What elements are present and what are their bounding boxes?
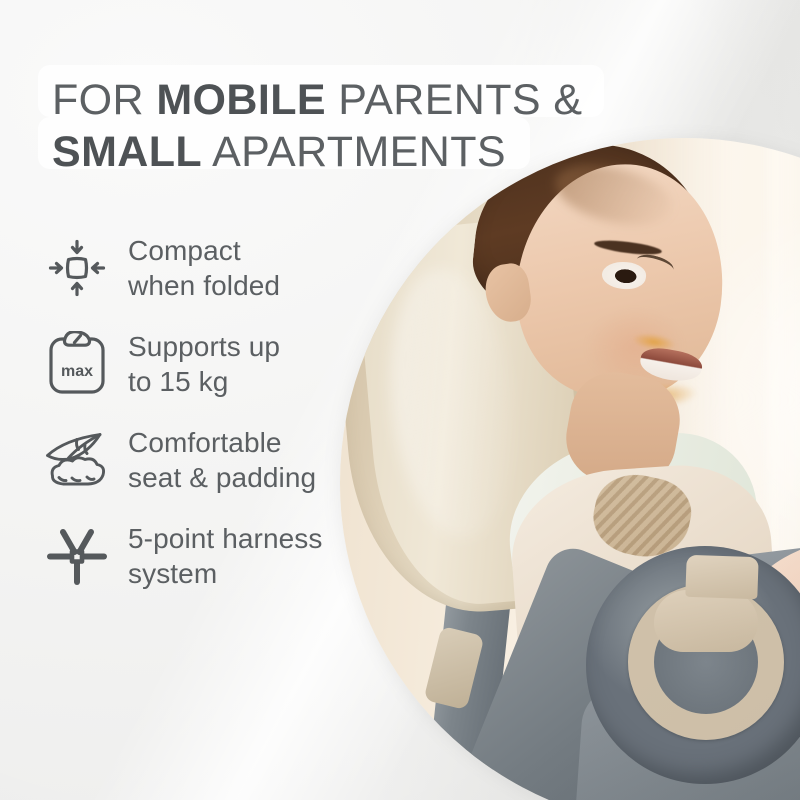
feature-harness-line1: 5-point harness <box>128 523 323 554</box>
feature-list: Compact when folded max Supports up to 1… <box>44 232 374 592</box>
feature-item-harness: 5-point harness system <box>44 520 374 592</box>
scale-max-text: max <box>61 363 93 380</box>
five-point-harness-icon <box>44 520 110 592</box>
feature-label-compact: Compact when folded <box>128 233 280 303</box>
feather-cloud-icon <box>44 424 110 496</box>
headline-line2-post: APARTMENTS <box>202 128 506 176</box>
feature-label-harness: 5-point harness system <box>128 521 323 591</box>
feature-compact-line1: Compact <box>128 235 241 266</box>
feature-item-weight: max Supports up to 15 kg <box>44 328 374 400</box>
feature-weight-line1: Supports up <box>128 331 280 362</box>
page-title: FOR MOBILE PARENTS & SMALL APARTMENTS <box>52 74 652 178</box>
feature-comfort-line1: Comfortable <box>128 427 282 458</box>
feature-harness-line2: system <box>128 558 217 589</box>
feature-compact-line2: when folded <box>128 270 280 301</box>
headline-line1-bold: MOBILE <box>156 76 326 124</box>
headline-line-2: SMALL APARTMENTS <box>52 126 652 178</box>
feature-item-compact: Compact when folded <box>44 232 374 304</box>
feature-item-comfort: Comfortable seat & padding <box>44 424 374 496</box>
product-feature-poster: FOR MOBILE PARENTS & SMALL APARTMENTS Co… <box>0 0 800 800</box>
feature-label-weight: Supports up to 15 kg <box>128 329 280 399</box>
headline-line1-post: PARENTS & <box>326 76 582 124</box>
headline-line2-bold: SMALL <box>52 128 202 176</box>
feature-comfort-line2: seat & padding <box>128 462 316 493</box>
weight-scale-max-icon: max <box>44 328 110 400</box>
feature-label-comfort: Comfortable seat & padding <box>128 425 316 495</box>
headline-line-1: FOR MOBILE PARENTS & <box>52 74 652 126</box>
headline-line1-pre: FOR <box>52 76 156 124</box>
feature-weight-line2: to 15 kg <box>128 366 228 397</box>
compress-arrows-icon <box>44 232 110 304</box>
